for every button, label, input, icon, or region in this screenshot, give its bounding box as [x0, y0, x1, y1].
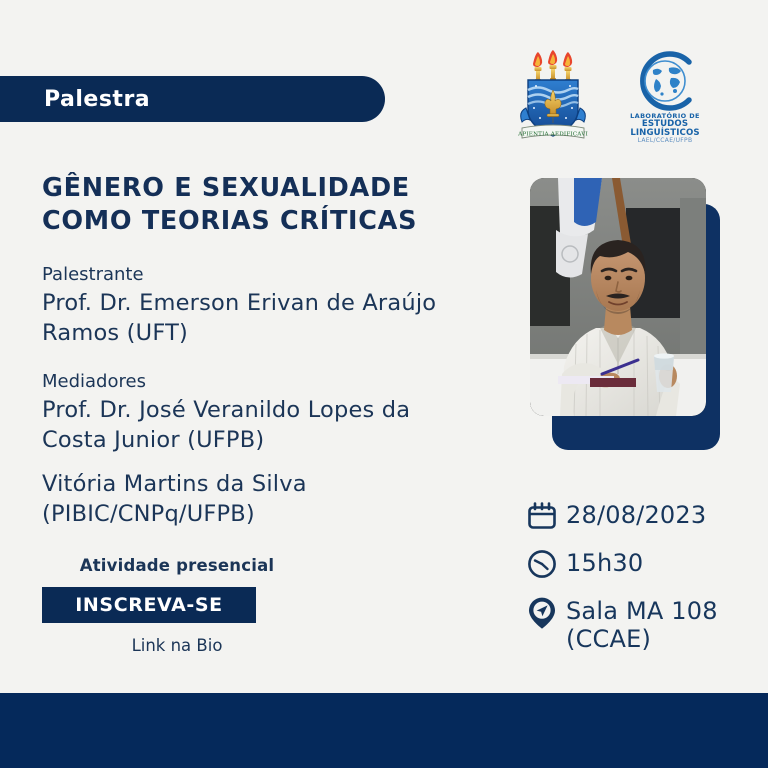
mediator2-name-line2: (PIBIC/CNPq/UFPB) [42, 500, 512, 530]
spacer [42, 456, 512, 470]
event-time: 15h30 [566, 549, 643, 577]
info-text-location: Sala MA 108 (CCAE) [566, 594, 718, 654]
mediators-role-label: Mediadores [42, 369, 512, 395]
logo-group: SAPIENTIA AEDIFICAVIT LABORATÓRIO [518, 50, 738, 150]
speaker-photo-block [530, 178, 720, 450]
speaker-name-line2: Ramos (UFT) [42, 319, 512, 349]
lael-logo-text: LABORATÓRIO DE ESTUDOS LINGUÍSTICOS LAEL… [606, 113, 724, 144]
info-text-date: 28/08/2023 [566, 498, 706, 529]
title-line-1: GÊNERO E SEXUALIDADE [42, 173, 410, 203]
laboratorio-estudos-linguisticos-logo: LABORATÓRIO DE ESTUDOS LINGUÍSTICOS LAEL… [606, 50, 724, 146]
location-pin-icon [526, 594, 566, 630]
credits-block: Palestrante Prof. Dr. Emerson Erivan de … [42, 262, 512, 530]
footer-bar [0, 693, 768, 768]
speaker-name-line1: Prof. Dr. Emerson Erivan de Araújo [42, 289, 512, 319]
info-row-location: Sala MA 108 (CCAE) [526, 594, 756, 654]
globe-icon [629, 50, 701, 112]
info-row-time: 15h30 [526, 546, 756, 580]
lael-logo-line3: LAEL/CCAE/UFPB [606, 138, 724, 144]
svg-text:SAPIENTIA AEDIFICAVIT: SAPIENTIA AEDIFICAVIT [518, 132, 588, 138]
poster-canvas: Palestra [0, 0, 768, 768]
activity-mode-label: Atividade presencial [42, 556, 312, 575]
event-date: 28/08/2023 [566, 501, 706, 529]
ufpb-coat-of-arms-logo: SAPIENTIA AEDIFICAVIT [518, 50, 588, 146]
event-room: Sala MA 108 [566, 597, 718, 625]
mediator1-name-line2: Costa Junior (UFPB) [42, 426, 512, 456]
title-line-2: COMO TEORIAS CRÍTICAS [42, 205, 492, 238]
lael-logo-line2: ESTUDOS LINGUÍSTICOS [606, 120, 724, 138]
event-info-list: 28/08/2023 15h30 [526, 498, 756, 654]
cta-block: Atividade presencial INSCREVA-SE Link na… [42, 556, 312, 655]
page-title: GÊNERO E SEXUALIDADE COMO TEORIAS CRÍTIC… [42, 172, 492, 237]
spacer [42, 349, 512, 369]
speaker-role-label: Palestrante [42, 262, 512, 288]
speaker-photo [530, 178, 706, 416]
event-campus: (CCAE) [566, 625, 718, 653]
link-na-bio-label: Link na Bio [42, 636, 312, 655]
clock-icon [526, 546, 566, 580]
info-row-date: 28/08/2023 [526, 498, 756, 532]
info-text-time: 15h30 [566, 546, 643, 577]
inscreva-se-button[interactable]: INSCREVA-SE [42, 587, 256, 623]
calendar-icon [526, 498, 566, 532]
mediator1-name-line1: Prof. Dr. José Veranildo Lopes da [42, 396, 512, 426]
palestra-banner: Palestra [0, 76, 385, 122]
mediator2-name-line1: Vitória Martins da Silva [42, 470, 512, 500]
palestra-banner-label: Palestra [44, 87, 150, 112]
